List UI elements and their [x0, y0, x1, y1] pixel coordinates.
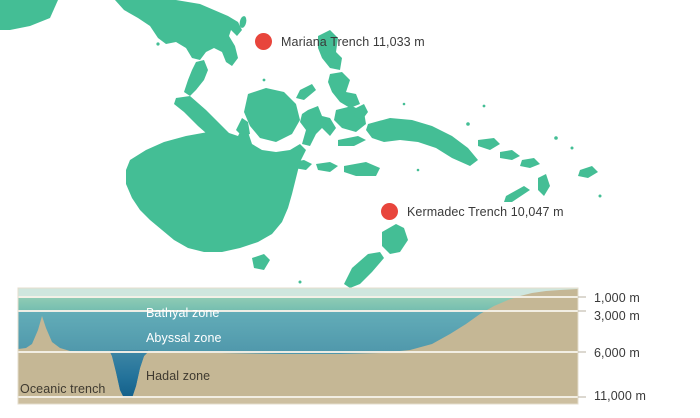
depth-label-11000m: 11,000 m [594, 389, 646, 403]
depth-label-3000m: 3,000 m [594, 309, 640, 323]
land-islet-5 [483, 105, 486, 108]
land-islet-4 [571, 147, 574, 150]
map-panel: Mariana Trench 11,033 m Kermadec Trench … [0, 0, 700, 288]
zone-label-bathyal: Bathyal zone [146, 306, 219, 320]
land-timor [344, 162, 380, 176]
land-solomons-2 [520, 158, 540, 168]
land-islet-1 [328, 54, 331, 57]
land-tasmania [252, 254, 270, 270]
marker-mariana-trench[interactable]: Mariana Trench 11,033 m [255, 33, 425, 50]
land-visayas [328, 72, 360, 108]
land-nz-south-island [344, 252, 384, 288]
land-islet-6 [263, 79, 266, 82]
marker-kermadec-label: Kermadec Trench 10,047 m [407, 205, 564, 219]
land-islet-9 [403, 103, 406, 106]
cross-section-panel: Bathyal zone Abyssal zone Hadal zone Oce… [0, 286, 700, 418]
land-lesser-sunda-mid [316, 162, 338, 172]
land-borneo [244, 88, 300, 142]
land-hainan [215, 40, 226, 47]
land-islet-11 [299, 281, 302, 284]
land-malay-peninsula [184, 60, 208, 96]
zone-label-hadal: Hadal zone [146, 369, 210, 383]
land-asia-northwest [0, 0, 58, 30]
land-islet-8 [599, 195, 602, 198]
land-solomons [500, 150, 520, 160]
infographic-root: Mariana Trench 11,033 m Kermadec Trench … [0, 0, 700, 418]
land-nz-north-island [382, 224, 408, 254]
land-vanuatu [538, 174, 550, 196]
land-islet-3 [554, 136, 558, 140]
marker-mariana-label: Mariana Trench 11,033 m [281, 35, 425, 49]
land-new-caledonia [504, 186, 530, 202]
land-seram [338, 136, 366, 146]
land-australia [126, 128, 306, 252]
depth-axis-ticks [578, 297, 586, 397]
marker-kermadec-trench[interactable]: Kermadec Trench 10,047 m [381, 203, 564, 220]
land-fiji [578, 166, 598, 178]
land-new-britain [478, 138, 500, 150]
zone-label-abyssal: Abyssal zone [146, 331, 222, 345]
red-dot-icon [255, 33, 272, 50]
land-islet-10 [417, 169, 420, 172]
land-palawan [296, 84, 316, 100]
land-sulawesi [300, 106, 336, 146]
feature-label-oceanic-trench: Oceanic trench [20, 382, 105, 396]
land-islet-7 [156, 42, 159, 45]
land-indochina [115, 0, 242, 66]
red-dot-icon [381, 203, 398, 220]
sediment-strip [18, 398, 578, 404]
land-new-guinea [366, 118, 478, 166]
depth-label-6000m: 6,000 m [594, 346, 640, 360]
depth-label-1000m: 1,000 m [594, 291, 640, 305]
land-islet-2 [466, 122, 470, 126]
